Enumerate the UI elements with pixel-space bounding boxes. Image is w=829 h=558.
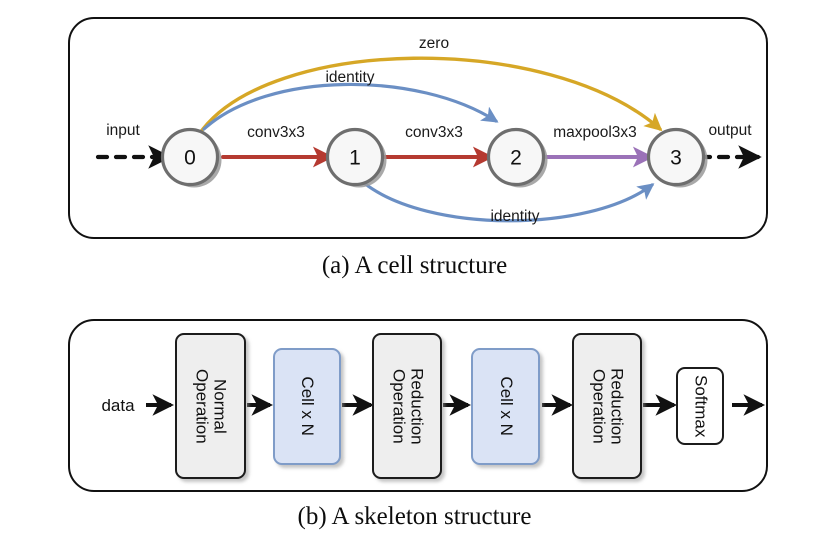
skeleton-input-label: data [101,396,135,415]
block-cell-x-n-1-label: Cell x N [298,377,316,437]
node-3-label: 3 [670,147,682,170]
caption-a: (a) A cell structure [0,252,829,280]
node-2[interactable]: 2 [489,130,548,188]
block-normal-operation-label: NormalOperation [192,369,229,444]
edge-label-identity-bottom: identity [490,208,539,225]
block-reduction-operation-1-label: ReductionOperation [389,368,426,445]
edge-label-conv3x3-a: conv3x3 [247,124,305,141]
block-reduction-operation-1[interactable]: ReductionOperation [372,333,442,479]
block-cell-x-n-2[interactable]: Cell x N [471,348,540,465]
node-1-label: 1 [349,147,361,170]
block-normal-operation[interactable]: NormalOperation [175,333,246,479]
node-1[interactable]: 1 [328,130,387,188]
edge-label-zero: zero [419,35,449,52]
node-0-label: 0 [184,147,196,170]
edge-label-maxpool3x3: maxpool3x3 [553,124,637,141]
block-cell-x-n-1[interactable]: Cell x N [273,348,341,465]
block-softmax[interactable]: Softmax [676,367,724,445]
edge-label-conv3x3-b: conv3x3 [405,124,463,141]
edge-identity-0-2 [204,84,496,129]
output-label: output [708,122,752,139]
node-0[interactable]: 0 [163,130,222,188]
node-3[interactable]: 3 [649,130,708,188]
edge-label-identity-top: identity [325,69,374,86]
block-softmax-label: Softmax [691,375,709,437]
block-reduction-operation-2-label: ReductionOperation [589,368,626,445]
block-reduction-operation-2[interactable]: ReductionOperation [572,333,642,479]
input-label: input [106,122,140,139]
caption-b: (b) A skeleton structure [0,503,829,531]
block-cell-x-n-2-label: Cell x N [496,377,514,437]
figure-container: input output zero identity conv3x3 conv3… [0,0,829,558]
skeleton-structure-diagram: data NormalOperation Cell x N ReductionO… [68,319,768,492]
node-2-label: 2 [510,147,522,170]
cell-structure-graph: input output zero identity conv3x3 conv3… [68,17,768,239]
